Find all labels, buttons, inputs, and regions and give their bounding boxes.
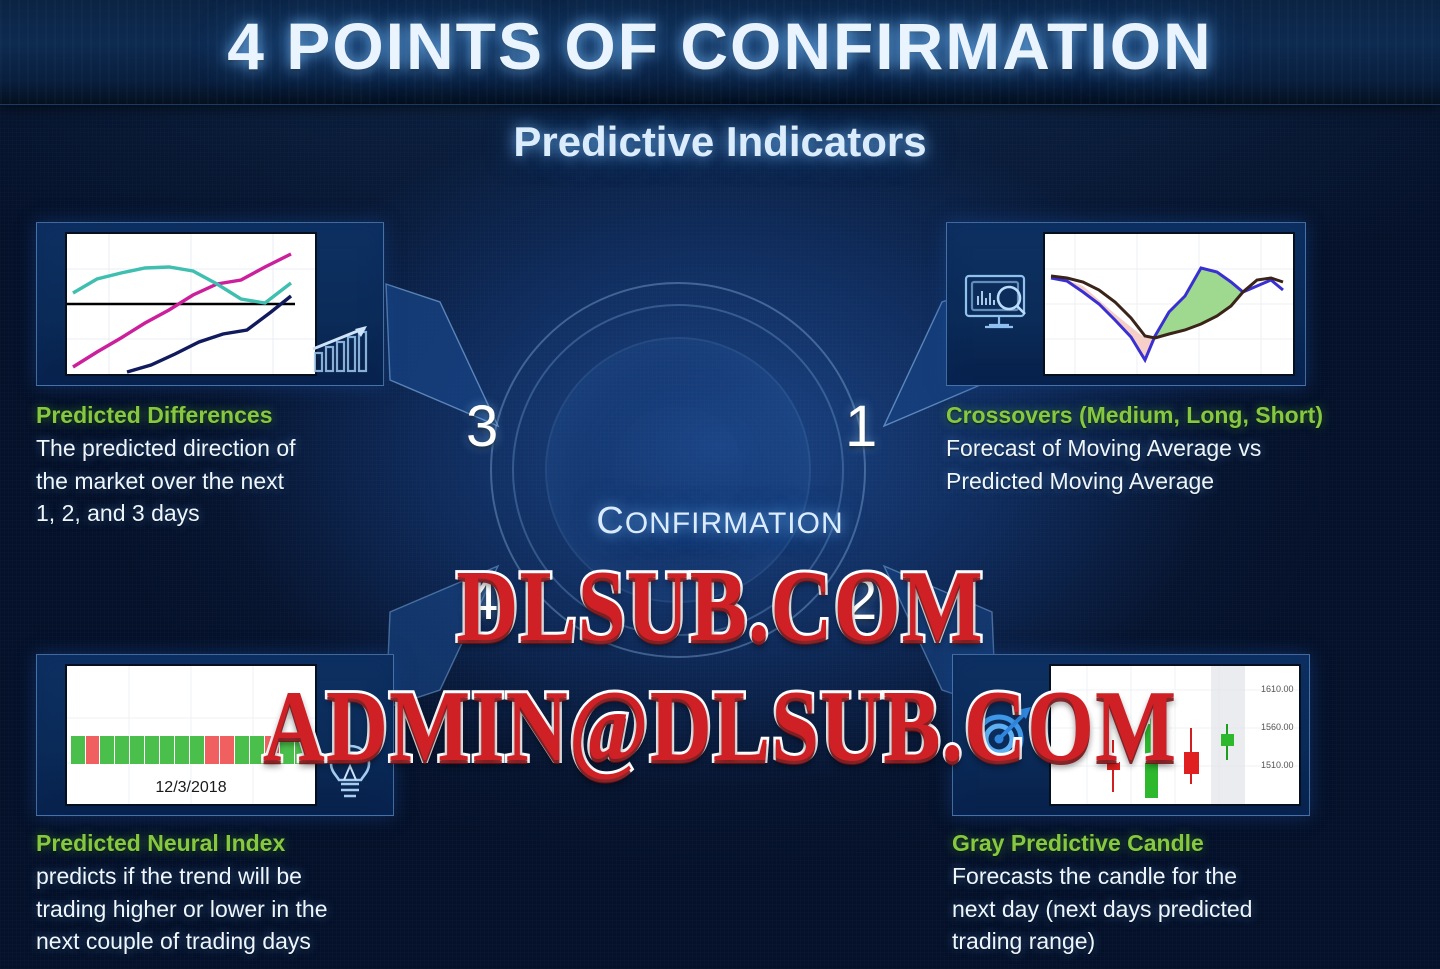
watermark-email: ADMIN@DLSUB.COM [263,667,1177,785]
panel-body-line: trading range) [952,925,1372,958]
svg-text:1510.00: 1510.00 [1261,760,1294,770]
bar-chart-growth-icon [307,321,373,377]
panel-body-line: next day (next days predicted [952,893,1372,926]
panel-body-line: The predicted direction of [36,432,436,465]
panel-body-line: the market over the next [36,465,436,498]
panel-title-crossovers: Crossovers (Medium, Long, Short) [946,402,1416,429]
svg-text:1560.00: 1560.00 [1261,722,1294,732]
panel-body-line: trading higher or lower in the [36,893,456,926]
neural-index-date-label: 12/3/2018 [155,779,226,796]
panel-body-line: Forecasts the candle for the [952,860,1372,893]
panel-body-line: next couple of trading days [36,925,456,958]
panel-body-gray-predictive-candle: Forecasts the candle for the next day (n… [952,860,1372,958]
caption-predicted-differences: Predicted Differences The predicted dire… [36,402,436,530]
panel-title-predicted-differences: Predicted Differences [36,402,436,429]
caption-predicted-neural-index: Predicted Neural Index predicts if the t… [36,830,456,958]
monitor-analytics-icon [961,271,1035,333]
center-label-text: C [596,500,624,542]
caption-crossovers: Crossovers (Medium, Long, Short) Forecas… [946,402,1416,497]
page-title: 4 POINTS OF CONFIRMATION [0,8,1440,84]
panel-body-line: Predicted Moving Average [946,465,1416,498]
predicted-differences-svg [67,234,315,374]
slide-canvas: 4 POINTS OF CONFIRMATION Predictive Indi… [0,0,1440,969]
caption-gray-predictive-candle: Gray Predictive Candle Forecasts the can… [952,830,1372,958]
panel-title-gray-predictive-candle: Gray Predictive Candle [952,830,1372,857]
panel-body-line: 1, 2, and 3 days [36,497,436,530]
panel-body-predicted-neural-index: predicts if the trend will be trading hi… [36,860,456,958]
panel-body-predicted-differences: The predicted direction of the market ov… [36,432,436,530]
chart-crossovers [1043,232,1295,376]
panel-title-predicted-neural-index: Predicted Neural Index [36,830,456,857]
crossovers-svg [1045,234,1293,374]
thumbnail-crossovers[interactable] [946,222,1306,386]
thumbnail-predicted-differences[interactable] [36,222,384,386]
panel-body-crossovers: Forecast of Moving Average vs Predicted … [946,432,1416,497]
step-number-3: 3 [466,393,498,460]
watermark-site: DLSUB.COM [456,547,983,665]
step-number-1: 1 [845,393,877,460]
page-subtitle: Predictive Indicators [0,118,1440,166]
center-label: CONFIRMATION [440,500,1000,543]
center-label-text-small: ONFIRMATION [625,507,844,540]
chart-predicted-differences [65,232,317,376]
panel-crossovers[interactable]: Crossovers (Medium, Long, Short) Forecas… [946,222,1416,497]
panel-body-line: Forecast of Moving Average vs [946,432,1416,465]
svg-text:1610.00: 1610.00 [1261,684,1294,694]
panel-body-line: predicts if the trend will be [36,860,456,893]
panel-predicted-differences[interactable]: Predicted Differences The predicted dire… [36,222,436,530]
